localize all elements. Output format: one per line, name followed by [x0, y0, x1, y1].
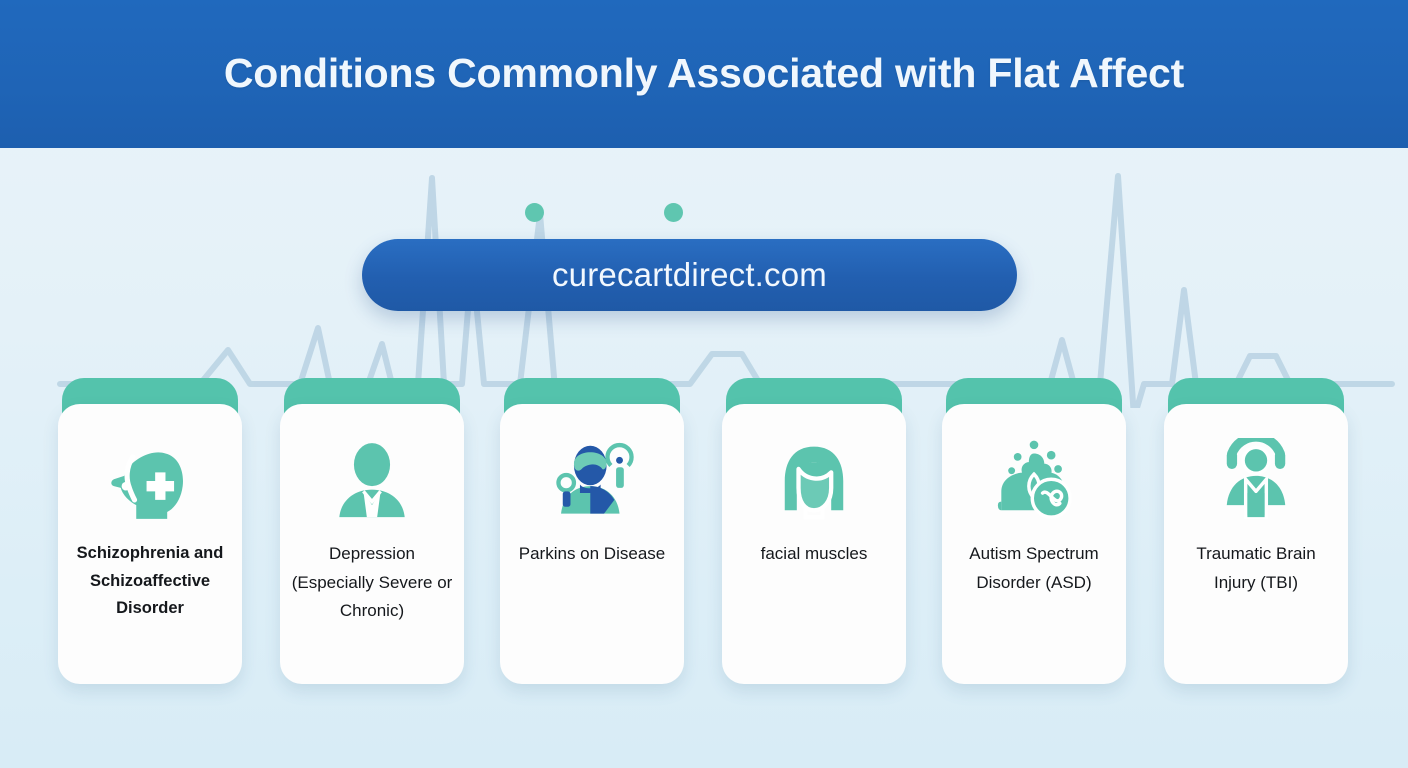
woman-face-icon — [771, 438, 857, 524]
card-label: Parkins on Disease — [506, 540, 678, 569]
card-label: Schizophrenia and Schizoaffective Disord… — [64, 540, 236, 623]
card-body: Autism Spectrum Disorder (ASD) — [942, 404, 1126, 684]
card-body: Parkins on Disease — [500, 404, 684, 684]
card-label: Autism Spectrum Disorder (ASD) — [948, 540, 1120, 597]
card-body: Traumatic Brain Injury (TBI) — [1164, 404, 1348, 684]
condition-card[interactable]: Traumatic Brain Injury (TBI) — [1164, 378, 1348, 688]
condition-card[interactable]: Autism Spectrum Disorder (ASD) — [942, 378, 1126, 688]
page-title: Conditions Commonly Associated with Flat… — [224, 51, 1184, 96]
card-body: Depression (Especially Severe or Chronic… — [280, 404, 464, 684]
brain-neurons-infinity-icon — [991, 438, 1077, 524]
domain-badge[interactable]: curecartdirect.com — [362, 239, 1017, 311]
card-label: Depression (Especially Severe or Chronic… — [286, 540, 458, 626]
head-with-medical-cross-icon — [107, 438, 193, 524]
infographic-canvas: Conditions Commonly Associated with Flat… — [0, 0, 1408, 768]
condition-card[interactable]: Parkins on Disease — [500, 378, 684, 688]
domain-label: curecartdirect.com — [552, 256, 827, 294]
condition-card[interactable]: Depression (Especially Severe or Chronic… — [280, 378, 464, 688]
decorative-dot-left — [525, 203, 544, 222]
card-label: facial muscles — [728, 540, 900, 569]
person-bust-icon — [329, 438, 415, 524]
condition-card[interactable]: Schizophrenia and Schizoaffective Disord… — [58, 378, 242, 688]
card-body: Schizophrenia and Schizoaffective Disord… — [58, 404, 242, 684]
condition-card[interactable]: facial muscles — [722, 378, 906, 688]
card-body: facial muscles — [722, 404, 906, 684]
header-band: Conditions Commonly Associated with Flat… — [0, 0, 1408, 148]
card-label: Traumatic Brain Injury (TBI) — [1170, 540, 1342, 597]
patient-with-assessment-icon — [549, 438, 635, 524]
decorative-dot-right — [664, 203, 683, 222]
person-with-head-arc-icon — [1213, 438, 1299, 524]
